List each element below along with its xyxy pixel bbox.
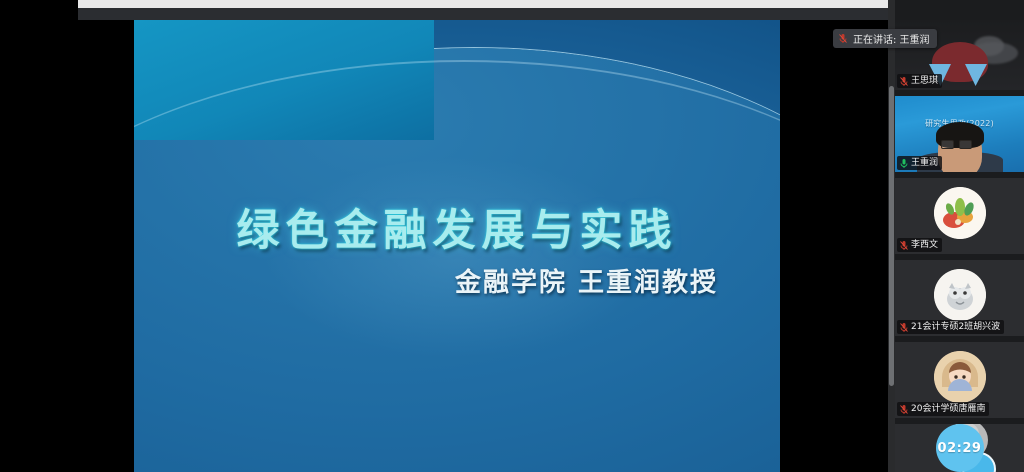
participant-name: 21会计专硕2班胡兴波	[911, 321, 1000, 333]
participant-tile-active[interactable]: 研究生思政(2022) 王重润	[895, 96, 1024, 172]
slide-title: 绿色金融发展与实践	[134, 196, 780, 258]
microphone-muted-icon	[899, 76, 909, 87]
clock-time: 02:29	[938, 441, 982, 456]
participant-avatar	[934, 187, 986, 239]
participant-name: 20会计学硕唐雁南	[911, 403, 985, 415]
microphone-muted-icon	[899, 322, 909, 333]
participant-name-badge: 王思琪	[897, 74, 942, 88]
active-speaker-tooltip: 正在讲话: 王重润	[833, 29, 937, 48]
participant-tile[interactable]: 李西文	[895, 178, 1024, 254]
participant-name-badge: 王重润	[897, 156, 942, 170]
window-title-strip	[78, 0, 1024, 8]
microphone-on-icon	[899, 158, 909, 169]
microphone-muted-icon	[899, 240, 909, 251]
participant-tile[interactable]: 21会计专硕2班胡兴波	[895, 260, 1024, 336]
clock-badge: 02:29	[936, 424, 984, 472]
participant-tile[interactable]: 02:29	[895, 424, 1024, 472]
presentation-slide: 绿色金融发展与实践 金融学院 王重润教授	[134, 20, 780, 472]
microphone-muted-icon	[899, 404, 909, 415]
participant-tile-list: 王思琪 研究生思政(2022)	[895, 0, 1024, 472]
meeting-window: 绿色金融发展与实践 金融学院 王重润教授 正在讲话: 王重润	[0, 0, 1024, 472]
participant-name: 王重润	[911, 157, 938, 169]
window-left-gutter	[0, 0, 78, 20]
participant-name: 王思琪	[911, 75, 938, 87]
avatar-artwork-icon	[934, 187, 986, 239]
person-glasses-left	[941, 140, 954, 149]
participant-tile[interactable]: 20会计学硕唐雁南	[895, 342, 1024, 418]
avatar-artwork-icon	[934, 351, 986, 403]
sidebar-scrollbar[interactable]	[888, 0, 895, 472]
participant-avatar	[934, 269, 986, 321]
participant-avatar	[934, 351, 986, 403]
slide-subtitle: 金融学院 王重润教授	[134, 262, 780, 299]
participant-name: 李西文	[911, 239, 938, 251]
avatar-artwork-icon	[934, 269, 986, 321]
microphone-muted-icon	[838, 33, 848, 44]
active-speaker-label: 正在讲话: 王重润	[853, 31, 930, 46]
participant-name-badge: 李西文	[897, 238, 942, 252]
participant-name-badge: 21会计专硕2班胡兴波	[897, 320, 1004, 334]
participant-avatar: 02:29	[922, 424, 998, 472]
sidebar-scrollbar-thumb[interactable]	[889, 86, 894, 386]
shared-screen-stage[interactable]: 绿色金融发展与实践 金融学院 王重润教授	[0, 20, 888, 472]
window-toolbar	[78, 8, 1024, 20]
person-glasses-right	[959, 140, 972, 149]
participants-sidebar[interactable]: 王思琪 研究生思政(2022)	[888, 0, 1024, 472]
participant-name-badge: 20会计学硕唐雁南	[897, 402, 989, 416]
